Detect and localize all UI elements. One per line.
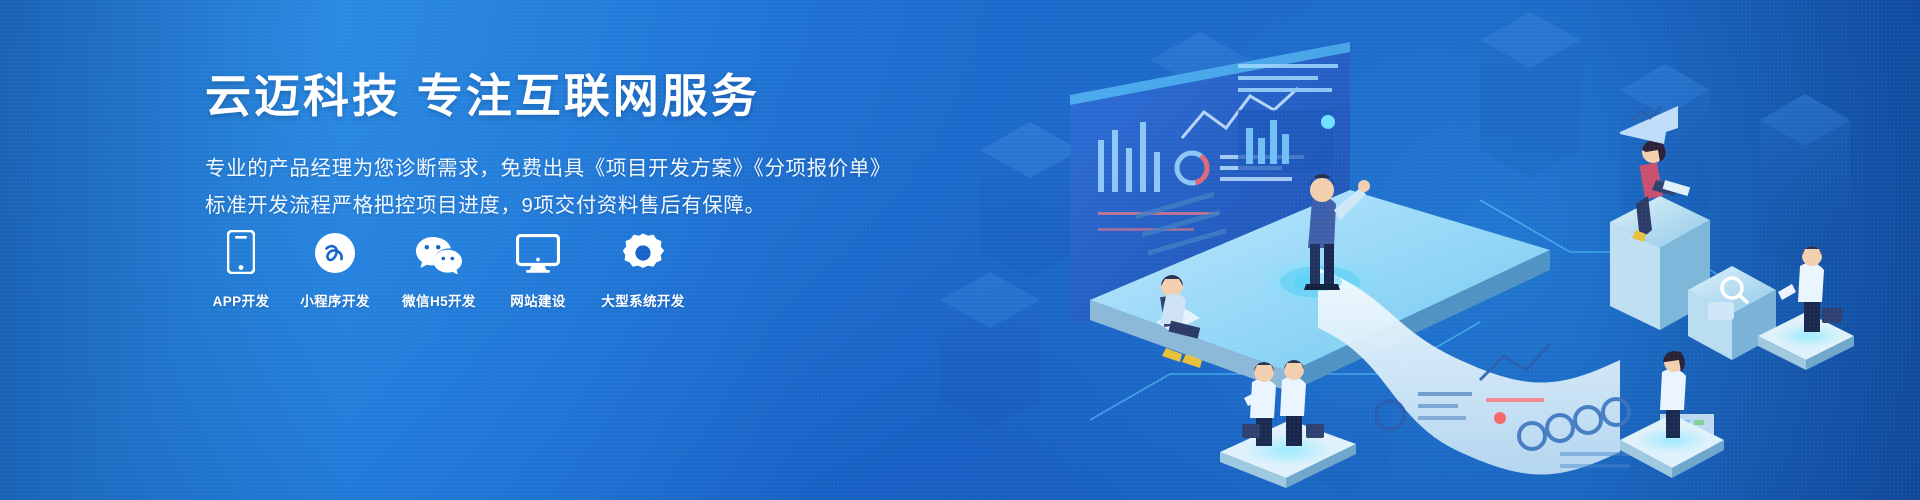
service-label-website: 网站建设 [510, 290, 566, 310]
service-item-mini-program[interactable]: 小程序开发 [291, 228, 379, 310]
hero-banner: 云迈科技 专注互联网服务 专业的产品经理为您诊断需求，免费出具《项目开发方案》《… [0, 0, 1920, 500]
service-label-app: APP开发 [213, 290, 270, 310]
gear-icon [622, 228, 664, 274]
subtitle-line-1: 专业的产品经理为您诊断需求，免费出具《项目开发方案》《分项报价单》 [205, 150, 1085, 188]
service-label-large-system: 大型系统开发 [601, 290, 684, 310]
subtitle-line-2: 标准开发流程严格把控项目进度，9项交付资料售后有保障。 [205, 187, 1085, 225]
service-label-mini-program: 小程序开发 [300, 290, 370, 310]
page-title: 云迈科技 专注互联网服务 [205, 68, 1085, 126]
service-item-wechat-h5[interactable]: 微信H5开发 [393, 228, 485, 310]
mini-program-icon [314, 228, 356, 274]
desktop-monitor-icon [516, 228, 560, 274]
banner-subtitle: 专业的产品经理为您诊断需求，免费出具《项目开发方案》《分项报价单》 标准开发流程… [205, 150, 1085, 226]
service-item-large-system[interactable]: 大型系统开发 [591, 228, 695, 310]
banner-copy: 云迈科技 专注互联网服务 专业的产品经理为您诊断需求，免费出具《项目开发方案》《… [205, 68, 1085, 225]
service-label-wechat-h5: 微信H5开发 [402, 290, 476, 310]
service-list: APP开发 小程序开发 微信 [205, 228, 695, 310]
service-item-app[interactable]: APP开发 [205, 228, 277, 310]
wechat-icon [415, 228, 463, 274]
service-item-website[interactable]: 网站建设 [499, 228, 577, 310]
mobile-phone-icon [227, 228, 255, 274]
